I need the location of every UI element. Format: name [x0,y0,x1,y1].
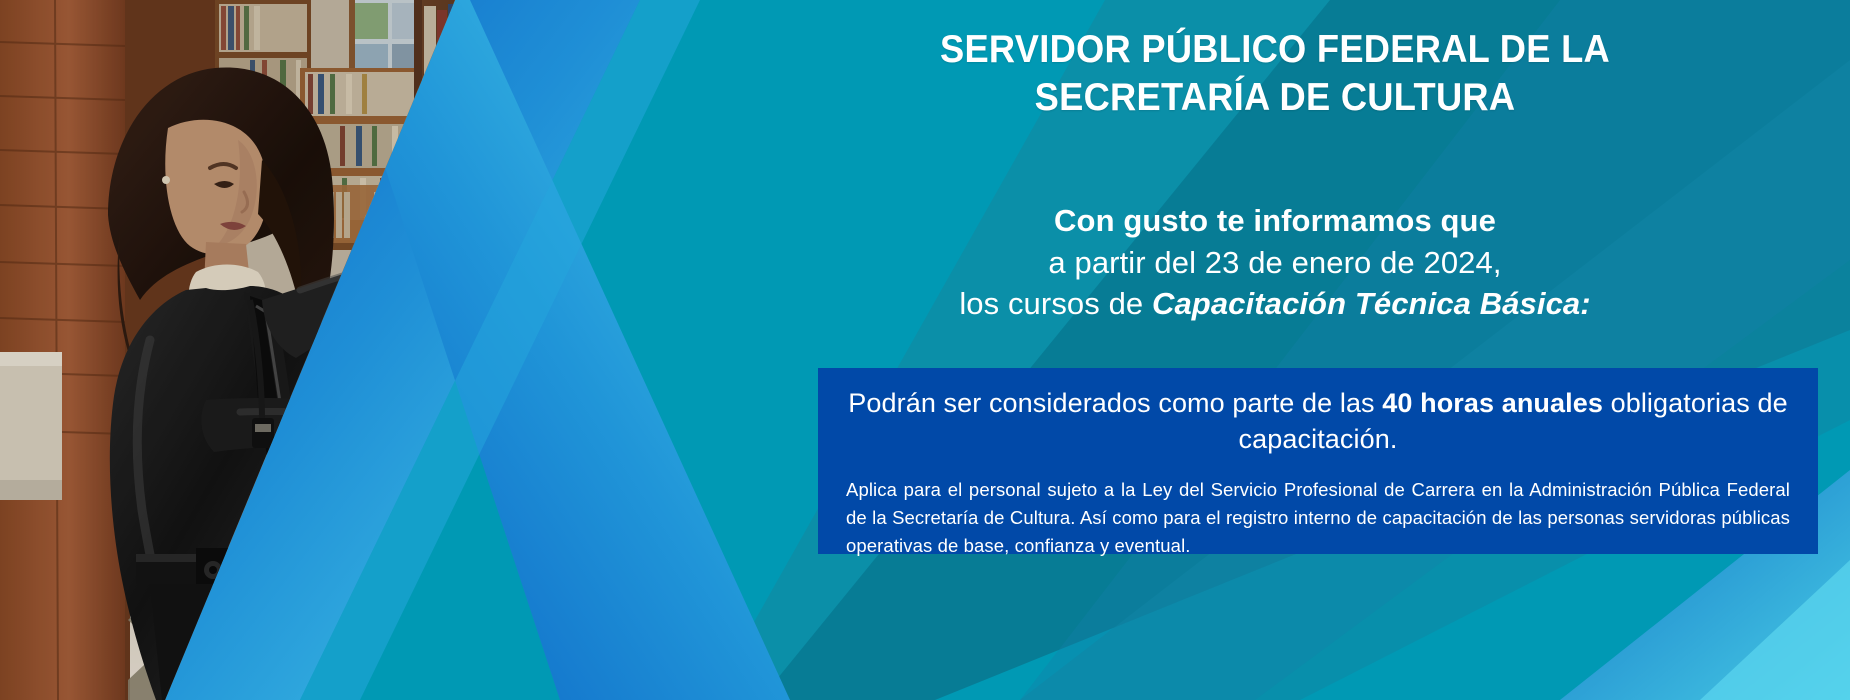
highlight-main-text: Podrán ser considerados como parte de la… [846,386,1790,457]
intro-line-2: a partir del 23 de enero de 2024, [700,242,1850,284]
intro-line-3-prefix: los cursos de [959,286,1152,321]
intro-line-3-emphasis: Capacitación Técnica Básica: [1152,286,1591,321]
intro-line-1: Con gusto te informamos que [700,200,1850,242]
intro-line-3: los cursos de Capacitación Técnica Básic… [700,283,1850,325]
banner-content: SERVIDOR PÚBLICO FEDERAL DE LA SECRETARÍ… [700,0,1850,700]
promotional-banner: PHOTO [0,0,1850,700]
intro-text: Con gusto te informamos que a partir del… [700,200,1850,325]
highlight-note: Aplica para el personal sujeto a la Ley … [846,476,1790,560]
page-title: SERVIDOR PÚBLICO FEDERAL DE LA SECRETARÍ… [740,26,1810,121]
highlight-prefix: Podrán ser considerados como parte de la… [848,388,1382,418]
headline-line-2: SECRETARÍA DE CULTURA [740,74,1810,122]
headline-line-1: SERVIDOR PÚBLICO FEDERAL DE LA [740,26,1810,74]
highlight-box: Podrán ser considerados como parte de la… [818,368,1818,554]
highlight-hours-emphasis: 40 horas anuales [1382,388,1603,418]
